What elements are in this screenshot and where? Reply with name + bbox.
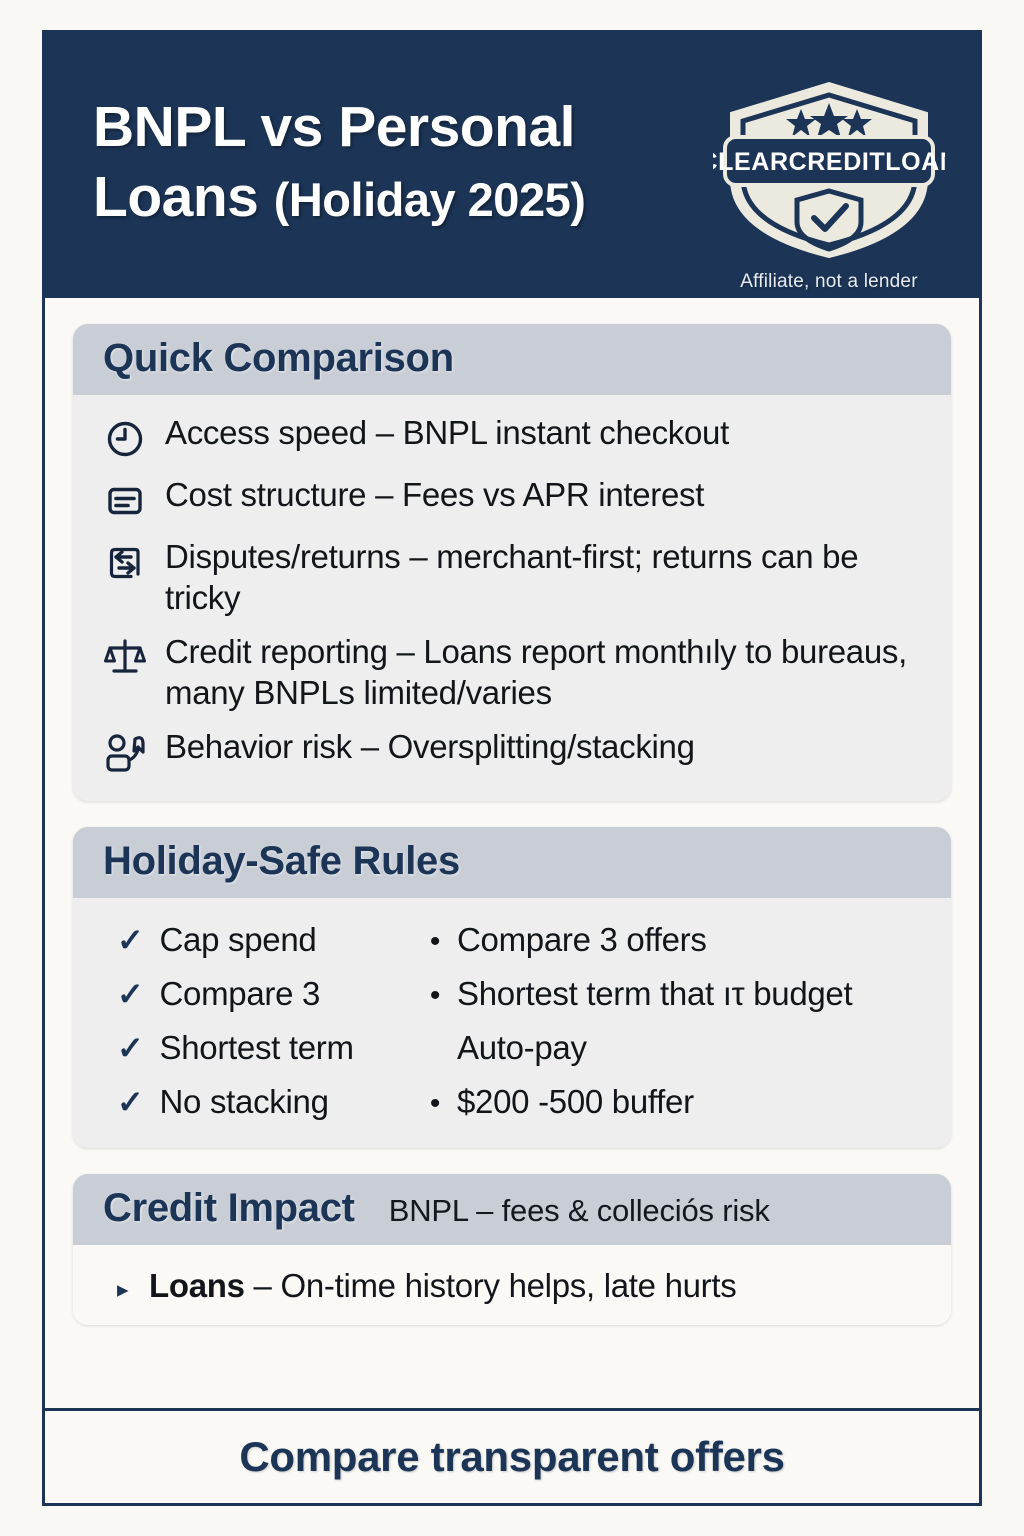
bullet-icon: • <box>429 1082 441 1126</box>
rule-label: Cap spend <box>160 916 317 964</box>
poster-header: BNPL vs Personal Loans (Holiday 2025) CL… <box>45 33 979 298</box>
rule-item: ✓ Shortest term <box>117 1024 417 1072</box>
rule-label: $200 -500 buffer <box>457 1078 694 1126</box>
rule-label: Shortest term that ıτ budget <box>457 970 852 1018</box>
section-title-quick-comparison: Quick Comparison <box>103 336 454 381</box>
page-title-line1: BNPL vs Personal <box>93 93 585 163</box>
card-body-credit-impact: ▸ Loans – On-time history helps, late hu… <box>73 1245 951 1325</box>
impact-row: ▸ Loans – On-time history helps, late hu… <box>103 1267 921 1305</box>
rule-label: Compare 3 <box>160 970 321 1018</box>
footer-cta: Compare transparent offers <box>239 1433 784 1481</box>
comparison-row: Behavior risk – Oversplitting/stacking <box>103 727 921 775</box>
page-title-line2: Loans (Holiday 2025) <box>93 163 585 233</box>
comparison-row-text: Access speed – BNPL instant checkout <box>165 413 729 454</box>
shield-badge-icon: CLEARCREDITLOAN <box>713 75 945 263</box>
balance-scale-icon <box>103 636 147 680</box>
rule-item: • Compare 3 offers <box>429 916 921 964</box>
section-title-holiday-safe-rules: Holiday-Safe Rules <box>103 839 460 884</box>
card-lines-icon <box>103 479 147 523</box>
impact-row-detail: – On-time history helps, late hurts <box>245 1267 737 1304</box>
poster-body: Quick Comparison Access speed – BNPL ins… <box>45 298 979 1408</box>
comparison-row-text: Disputes/returns – merchant-first; retur… <box>165 537 921 618</box>
return-arrows-icon <box>103 541 147 585</box>
rule-item: ✓ Compare 3 <box>117 970 417 1018</box>
comparison-row: Credit reporting – Loans report monthıly… <box>103 632 921 713</box>
page-title-parenthetical: (Holiday 2025) <box>274 173 586 226</box>
rule-item: • $200 -500 buffer <box>429 1078 921 1126</box>
rule-label: Shortest term <box>160 1024 354 1072</box>
poster-footer: Compare transparent offers <box>45 1408 979 1503</box>
bullet-icon: • <box>429 974 441 1018</box>
check-icon: ✓ <box>117 917 144 963</box>
comparison-row-text: Cost structure – Fees vs APR interest <box>165 475 704 516</box>
section-title-credit-impact: Credit Impact <box>103 1186 355 1231</box>
title-block: BNPL vs Personal Loans (Holiday 2025) <box>93 71 585 232</box>
comparison-row-text: Behavior risk – Oversplitting/stacking <box>165 727 695 768</box>
logo-tagline: Affiliate, not a lender <box>740 271 917 293</box>
card-header-quick-comparison: Quick Comparison <box>73 324 951 395</box>
comparison-row: Access speed – BNPL instant checkout <box>103 413 921 461</box>
rule-item: ✓ Cap spend <box>117 916 417 964</box>
rule-item: • Shortest term that ıτ budget <box>429 970 921 1018</box>
check-icon: ✓ <box>117 971 144 1017</box>
impact-row-text: Loans – On-time history helps, late hurt… <box>149 1267 736 1305</box>
bullet-icon: • <box>429 920 441 964</box>
comparison-row: Disputes/returns – merchant-first; retur… <box>103 537 921 618</box>
brand-wordmark: CLEARCREDITLOAN <box>713 148 945 176</box>
rule-label: Auto-pay <box>457 1024 587 1072</box>
rules-grid: ✓ Cap spend • Compare 3 offers ✓ Compare… <box>103 916 921 1125</box>
check-icon: ✓ <box>117 1025 144 1071</box>
card-header-holiday-safe-rules: Holiday-Safe Rules <box>73 827 951 898</box>
impact-row-label: Loans <box>149 1267 245 1304</box>
credit-impact-note: BNPL – fees & colleciós risk <box>389 1193 770 1229</box>
person-cursor-icon <box>103 731 147 775</box>
rule-label: No stacking <box>160 1078 329 1126</box>
card-quick-comparison: Quick Comparison Access speed – BNPL ins… <box>73 324 951 801</box>
infographic-poster: BNPL vs Personal Loans (Holiday 2025) CL… <box>42 30 982 1506</box>
comparison-row-text: Credit reporting – Loans report monthıly… <box>165 632 921 713</box>
rule-label: Compare 3 offers <box>457 916 707 964</box>
card-credit-impact: Credit Impact BNPL – fees & colleciós ri… <box>73 1174 951 1325</box>
page-title-main: Loans <box>93 165 274 229</box>
check-icon: ✓ <box>117 1079 144 1125</box>
rule-item: ✓ No stacking <box>117 1078 417 1126</box>
brand-logo: CLEARCREDITLOAN Affiliate, not a lender <box>713 71 945 293</box>
clock-icon <box>103 417 147 461</box>
comparison-row: Cost structure – Fees vs APR interest <box>103 475 921 523</box>
rule-item: Auto-pay <box>429 1024 921 1072</box>
card-header-credit-impact: Credit Impact BNPL – fees & colleciós ri… <box>73 1174 951 1245</box>
card-body-quick-comparison: Access speed – BNPL instant checkout Cos… <box>73 395 951 801</box>
card-body-holiday-safe-rules: ✓ Cap spend • Compare 3 offers ✓ Compare… <box>73 898 951 1147</box>
card-holiday-safe-rules: Holiday-Safe Rules ✓ Cap spend • Compare… <box>73 827 951 1147</box>
triangle-bullet-icon: ▸ <box>117 1276 133 1303</box>
